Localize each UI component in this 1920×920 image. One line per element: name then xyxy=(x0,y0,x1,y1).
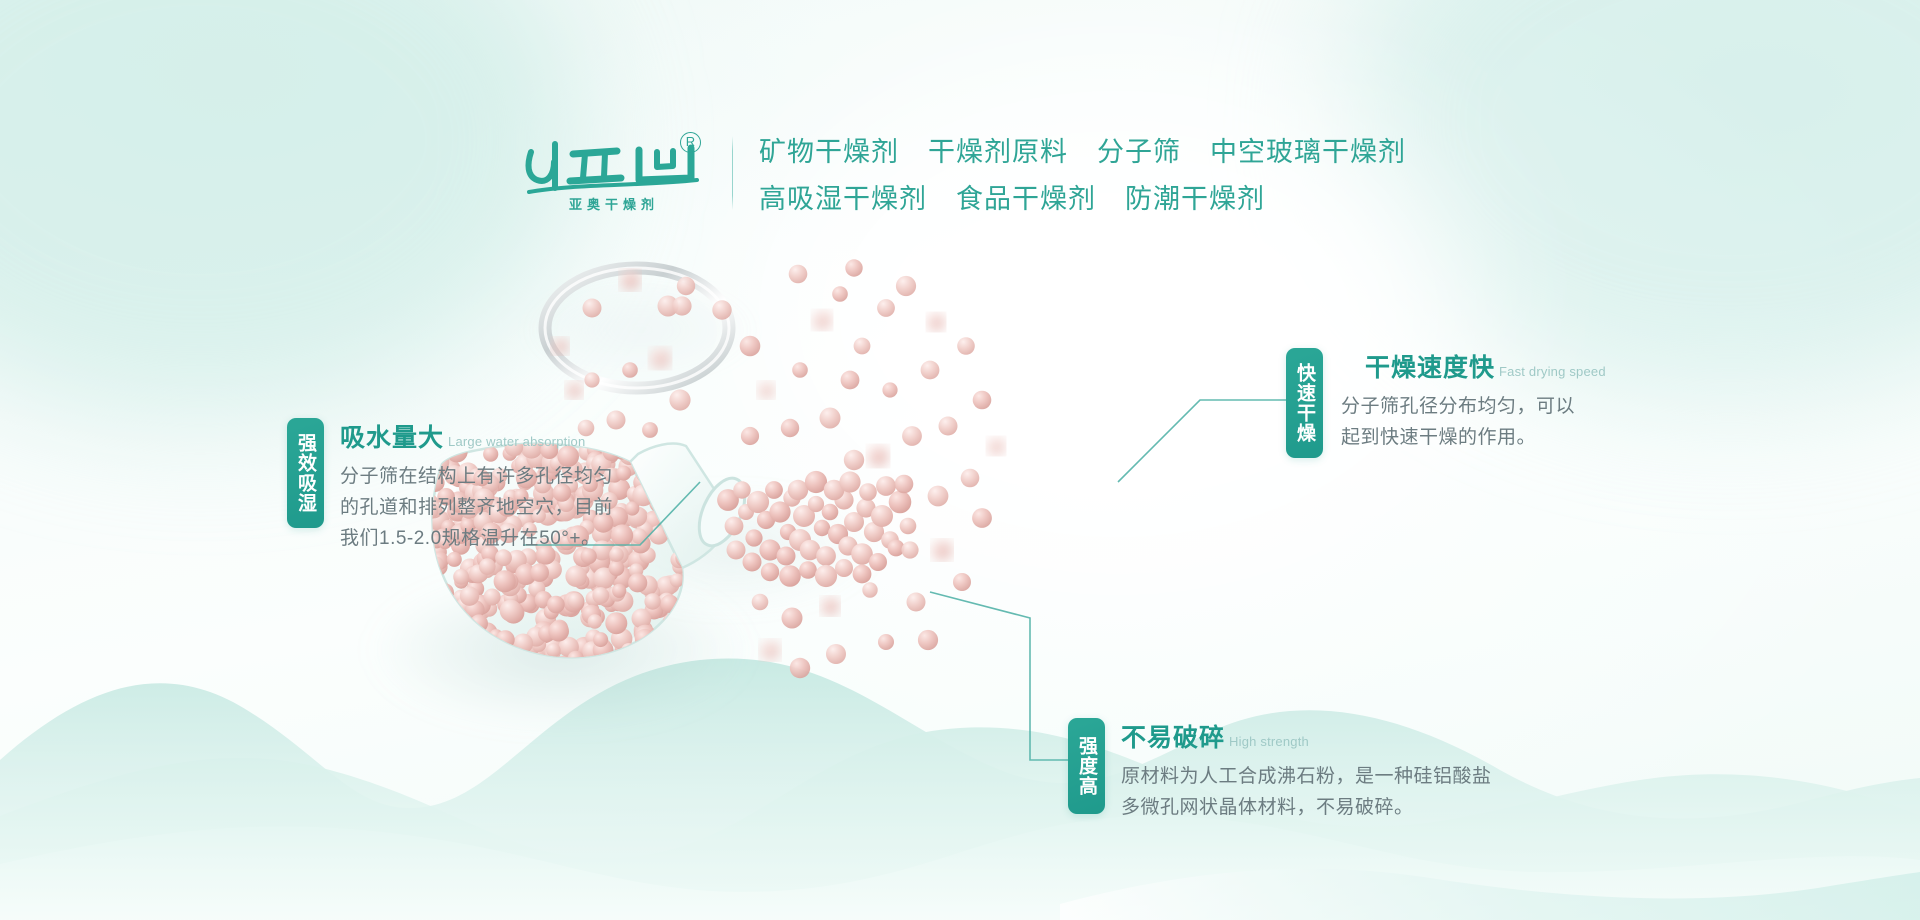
desiccant-bead xyxy=(813,311,832,330)
callout-title-row: 干燥速度快 Fast drying speed xyxy=(1341,348,1606,384)
nav-item-insulating-glass-desiccant[interactable]: 中空玻璃干燥剂 xyxy=(1210,130,1406,169)
desiccant-bead xyxy=(669,389,690,410)
desiccant-bead xyxy=(567,593,583,609)
desiccant-bead xyxy=(548,621,569,642)
desiccant-bead xyxy=(552,338,568,354)
desiccant-bead xyxy=(889,491,912,514)
desiccant-bead xyxy=(961,469,980,488)
desiccant-bead xyxy=(593,632,608,647)
desiccant-bead xyxy=(733,481,750,498)
desiccant-bead xyxy=(453,569,469,585)
desiccant-bead xyxy=(584,372,599,387)
desiccant-bead xyxy=(609,560,625,576)
callout-content: 不易破碎 High strength 原材料为人工合成沸石粉，是一种硅铝酸盐 多… xyxy=(1105,718,1492,824)
desiccant-bead xyxy=(622,362,638,378)
callout-description-line: 多微孔网状晶体材料，不易破碎。 xyxy=(1121,793,1492,824)
desiccant-bead xyxy=(428,556,444,572)
callout-title-en: Large water absorption xyxy=(448,434,585,449)
callout-badge: 强效吸湿 xyxy=(287,418,324,528)
registered-trademark-icon: R xyxy=(680,132,701,153)
desiccant-bead xyxy=(918,630,938,650)
nav-item-mineral-desiccant[interactable]: 矿物干燥剂 xyxy=(759,130,914,169)
desiccant-bead xyxy=(670,573,684,587)
desiccant-bead xyxy=(845,259,862,276)
desiccant-bead xyxy=(902,426,922,446)
callout-badge: 快速干燥 xyxy=(1286,348,1323,458)
desiccant-bead xyxy=(928,486,949,507)
desiccant-bead xyxy=(566,382,582,398)
desiccant-bead xyxy=(642,422,658,438)
desiccant-bead xyxy=(808,496,824,512)
callout-title-row: 不易破碎 High strength xyxy=(1121,718,1492,754)
callout-badge: 强度高 xyxy=(1068,718,1105,814)
callout-description-line: 分子筛孔径分布均匀，可以 xyxy=(1341,392,1606,423)
desiccant-bead xyxy=(611,524,633,546)
desiccant-bead xyxy=(907,593,926,612)
desiccant-bead xyxy=(939,417,958,436)
desiccant-bead xyxy=(779,565,801,587)
desiccant-bead xyxy=(677,277,695,295)
callout-title: 不易破碎 xyxy=(1121,718,1225,754)
desiccant-bead xyxy=(631,528,647,544)
callout-high-strength: 强度高 不易破碎 High strength 原材料为人工合成沸石粉，是一种硅铝… xyxy=(1068,718,1492,824)
nav-item-desiccant-raw-material[interactable]: 干燥剂原料 xyxy=(928,130,1083,169)
callout-description-line: 的孔道和排列整齐地空穴，目前 xyxy=(340,493,613,524)
desiccant-bead xyxy=(612,584,626,598)
desiccant-bead xyxy=(972,508,992,528)
desiccant-bead xyxy=(752,594,769,611)
desiccant-bead xyxy=(628,573,647,592)
desiccant-bead xyxy=(844,450,864,470)
desiccant-bead xyxy=(868,446,888,466)
desiccant-bead xyxy=(782,608,803,629)
desiccant-bead xyxy=(592,587,609,604)
desiccant-bead xyxy=(583,299,602,318)
desiccant-bead xyxy=(895,475,914,494)
logo-mark-icon: R xyxy=(521,134,707,198)
desiccant-bead xyxy=(479,558,496,575)
desiccant-bead xyxy=(900,518,917,535)
desiccant-bead xyxy=(546,643,560,657)
desiccant-bead xyxy=(745,529,762,546)
callout-content: 干燥速度快 Fast drying speed 分子筛孔径分布均匀，可以 起到快… xyxy=(1323,348,1606,458)
desiccant-bead xyxy=(650,348,671,369)
desiccant-bead xyxy=(747,491,769,513)
desiccant-bead xyxy=(781,419,799,437)
desiccant-bead xyxy=(616,466,631,481)
desiccant-bead xyxy=(928,314,945,331)
desiccant-bead xyxy=(565,566,586,587)
desiccant-bead xyxy=(869,553,887,571)
nav-item-food-desiccant[interactable]: 食品干燥剂 xyxy=(956,177,1111,216)
callout-description-line: 起到快速干燥的作用。 xyxy=(1341,423,1606,454)
desiccant-bead xyxy=(777,547,796,566)
callout-description-line: 分子筛在结构上有许多孔径均匀 xyxy=(340,462,613,493)
desiccant-bead xyxy=(820,408,841,429)
desiccant-bead xyxy=(792,362,808,378)
desiccant-bead xyxy=(588,614,602,628)
keyword-nav-row-2: 高吸湿干燥剂 食品干燥剂 防潮干燥剂 xyxy=(759,177,1406,216)
desiccant-bead xyxy=(932,540,952,560)
desiccant-bead xyxy=(826,644,846,664)
desiccant-bead xyxy=(822,504,839,521)
desiccant-bead xyxy=(740,336,761,357)
nav-item-high-moisture-desiccant[interactable]: 高吸湿干燥剂 xyxy=(759,177,942,216)
nav-item-molecular-sieve[interactable]: 分子筛 xyxy=(1097,130,1196,169)
desiccant-bead xyxy=(761,563,779,581)
header-divider xyxy=(732,136,733,210)
callout-title-row: 吸水量大 Large water absorption xyxy=(340,418,613,454)
nav-item-moisture-proof-desiccant[interactable]: 防潮干燥剂 xyxy=(1125,177,1265,216)
keyword-nav-row-1: 矿物干燥剂 干燥剂原料 分子筛 中空玻璃干燥剂 xyxy=(759,130,1406,169)
desiccant-bead xyxy=(644,593,660,609)
desiccant-bead xyxy=(814,520,830,536)
callout-title: 干燥速度快 xyxy=(1365,348,1495,384)
desiccant-bead xyxy=(672,296,691,315)
callout-description: 分子筛在结构上有许多孔径均匀 的孔道和排列整齐地空穴，目前 我们1.5-2.0规… xyxy=(340,462,613,554)
desiccant-bead xyxy=(712,300,731,319)
callout-description: 原材料为人工合成沸石粉，是一种硅铝酸盐 多微孔网状晶体材料，不易破碎。 xyxy=(1121,762,1492,824)
desiccant-bead xyxy=(854,338,871,355)
desiccant-bead xyxy=(853,565,872,584)
desiccant-bead xyxy=(758,382,774,398)
keyword-nav: 矿物干燥剂 干燥剂原料 分子筛 中空玻璃干燥剂 高吸湿干燥剂 食品干燥剂 防潮干… xyxy=(759,130,1406,216)
callout-title: 吸水量大 xyxy=(340,418,444,454)
desiccant-bead xyxy=(725,517,744,536)
callout-title-en: High strength xyxy=(1229,734,1309,749)
desiccant-bead xyxy=(821,597,839,615)
callout-description-line: 原材料为人工合成沸石粉，是一种硅铝酸盐 xyxy=(1121,762,1492,793)
desiccant-bead xyxy=(882,382,897,397)
banner-header: R 亚奥干燥剂 矿物干燥剂 干燥剂原料 分子筛 中空玻璃干燥剂 高吸湿干燥剂 食… xyxy=(0,118,1920,228)
desiccant-bead xyxy=(789,265,808,284)
desiccant-bead xyxy=(605,612,627,634)
desiccant-bead xyxy=(620,270,640,290)
callout-large-water-absorption: 强效吸湿 吸水量大 Large water absorption 分子筛在结构上… xyxy=(287,418,613,554)
desiccant-bead xyxy=(921,361,940,380)
desiccant-bead xyxy=(494,570,516,592)
desiccant-bead xyxy=(832,286,848,302)
desiccant-bead xyxy=(530,563,549,582)
desiccant-bead xyxy=(765,481,783,499)
desiccant-bead xyxy=(841,371,860,390)
desiccant-bead xyxy=(422,570,441,589)
desiccant-bead xyxy=(816,546,836,566)
callout-description: 分子筛孔径分布均匀，可以 起到快速干燥的作用。 xyxy=(1341,392,1606,454)
desiccant-bead xyxy=(859,483,877,501)
callout-title-en: Fast drying speed xyxy=(1499,364,1606,379)
desiccant-bead xyxy=(835,559,853,577)
desiccant-bead xyxy=(799,561,817,579)
desiccant-bead xyxy=(790,658,810,678)
desiccant-bead xyxy=(839,471,860,492)
desiccant-bead xyxy=(743,553,762,572)
desiccant-bead xyxy=(862,582,877,597)
desiccant-bead xyxy=(460,587,479,606)
desiccant-bead xyxy=(878,634,894,650)
callout-fast-drying-speed: 快速干燥 干燥速度快 Fast drying speed 分子筛孔径分布均匀，可… xyxy=(1286,348,1606,458)
callout-description-line: 我们1.5-2.0规格温升在50°+。 xyxy=(340,524,613,555)
desiccant-bead xyxy=(727,541,746,560)
desiccant-bead xyxy=(987,437,1004,454)
desiccant-bead xyxy=(741,427,759,445)
desiccant-bead xyxy=(500,600,522,622)
desiccant-bead xyxy=(760,640,779,659)
product-banner: R 亚奥干燥剂 矿物干燥剂 干燥剂原料 分子筛 中空玻璃干燥剂 高吸湿干燥剂 食… xyxy=(0,0,1920,920)
desiccant-bead xyxy=(876,476,896,496)
desiccant-bead xyxy=(973,391,992,410)
callout-content: 吸水量大 Large water absorption 分子筛在结构上有许多孔径… xyxy=(324,418,613,554)
desiccant-bead xyxy=(871,505,893,527)
desiccant-bead xyxy=(896,276,916,296)
desiccant-bead xyxy=(953,573,971,591)
desiccant-bead xyxy=(547,596,565,614)
desiccant-bead xyxy=(815,565,837,587)
desiccant-bead xyxy=(877,299,895,317)
desiccant-bead xyxy=(484,589,501,606)
brand-logo[interactable]: R 亚奥干燥剂 xyxy=(514,125,714,221)
desiccant-bead xyxy=(901,541,918,558)
desiccant-bead xyxy=(957,337,975,355)
